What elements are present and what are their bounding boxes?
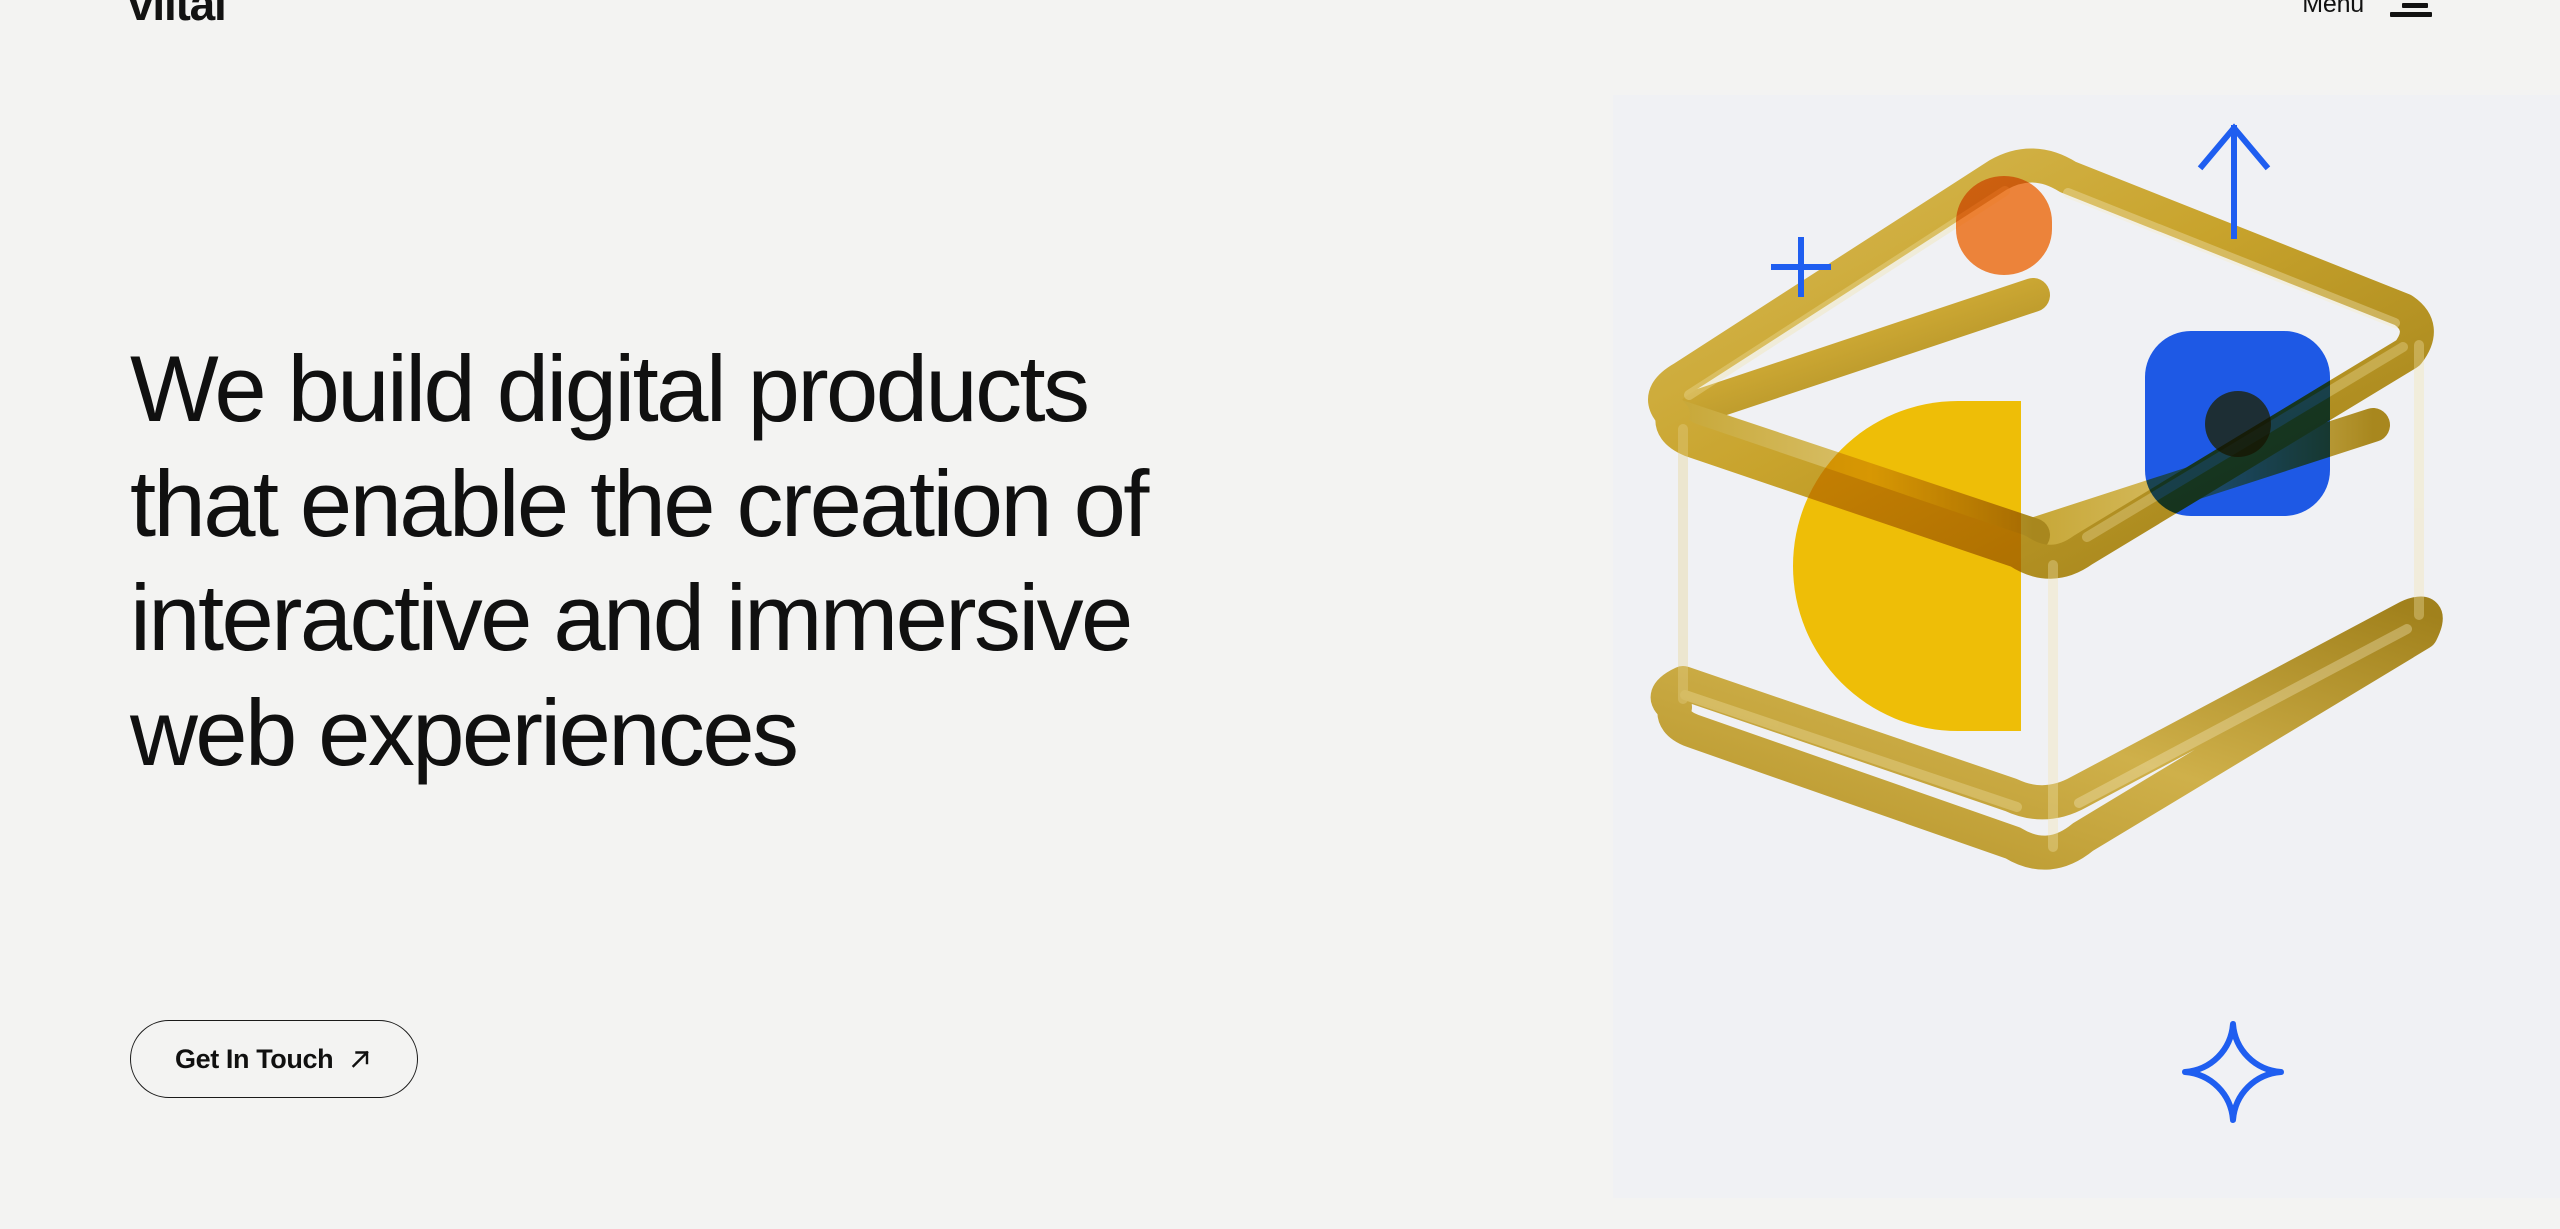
orange-circle-shape [2205, 391, 2271, 457]
wireframe-cube-graphic [1613, 95, 2560, 1198]
site-logo[interactable]: viitai [128, 0, 226, 27]
get-in-touch-label: Get In Touch [175, 1046, 333, 1073]
artwork-stage [1613, 95, 2560, 1198]
arrow-up-right-icon [349, 1047, 373, 1071]
four-point-star-icon [2181, 1020, 2285, 1124]
headline-line-4: web experiences [130, 676, 1550, 791]
hero-artwork-panel [1613, 95, 2560, 1198]
arrow-up-icon [2195, 120, 2273, 240]
get-in-touch-button[interactable]: Get In Touch [130, 1020, 418, 1098]
hero-copy-column: We build digital products that enable th… [0, 0, 1613, 1229]
hamburger-line [2402, 3, 2428, 8]
page-title: We build digital products that enable th… [130, 332, 1550, 791]
hamburger-line [2390, 12, 2432, 17]
headline-line-3: interactive and immersive [130, 561, 1550, 676]
site-header: viitai Menu [0, 0, 2560, 44]
orange-capsule-shape [1956, 176, 2052, 275]
plus-icon [1768, 234, 1834, 300]
hamburger-icon[interactable] [2390, 0, 2432, 17]
hero-page: viitai Menu We build digital products th… [0, 0, 2560, 1229]
menu-label[interactable]: Menu [2302, 0, 2364, 17]
headline-line-2: that enable the creation of [130, 447, 1550, 562]
headline-line-1: We build digital products [130, 332, 1550, 447]
menu-toggle[interactable]: Menu [2302, 0, 2432, 17]
